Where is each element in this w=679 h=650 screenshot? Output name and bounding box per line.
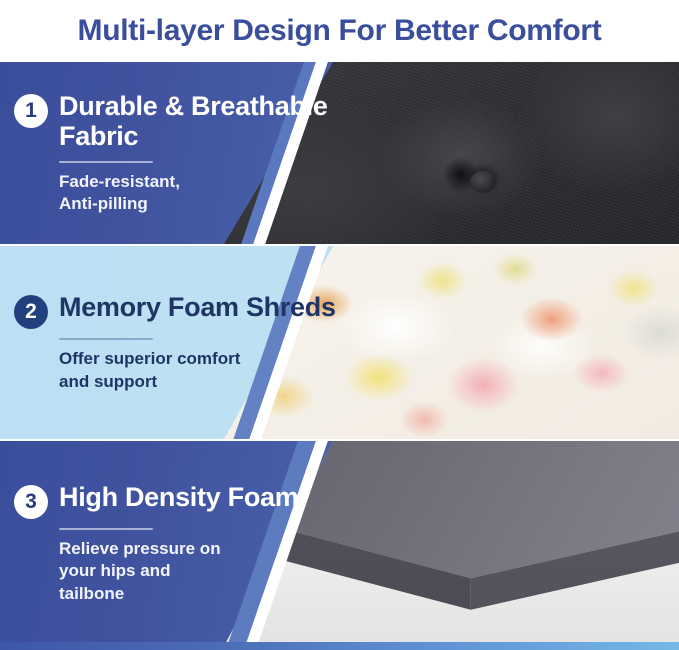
step-number-badge-3: 3: [14, 485, 48, 519]
panel-3-divider: [59, 528, 153, 530]
panel-2-subtext: Offer superior comfort and support: [59, 348, 354, 393]
panel-2-heading-row: 2 Memory Foam Shreds: [14, 292, 354, 329]
feature-panel-3: 3 High Density Foam Relieve pressure on …: [0, 441, 679, 646]
panel-3-content: 3 High Density Foam Relieve pressure on …: [14, 441, 354, 646]
panel-2-heading: Memory Foam Shreds: [59, 292, 336, 323]
feature-panel-1: 1 Durable & Breathable Fabric Fade-resis…: [0, 62, 679, 244]
panel-1-content: 1 Durable & Breathable Fabric Fade-resis…: [14, 62, 354, 244]
panel-1-divider: [59, 161, 153, 163]
panel-3-heading-row: 3 High Density Foam: [14, 482, 354, 519]
panel-1-subtext: Fade-resistant, Anti-pilling: [59, 171, 354, 216]
feature-panel-2: 2 Memory Foam Shreds Offer superior comf…: [0, 246, 679, 439]
tufted-button-detail: [470, 171, 496, 193]
panel-2-content: 2 Memory Foam Shreds Offer superior comf…: [14, 246, 354, 439]
page-title: Multi-layer Design For Better Comfort: [78, 14, 602, 48]
page-header: Multi-layer Design For Better Comfort: [0, 0, 679, 62]
panel-3-heading: High Density Foam: [59, 482, 298, 513]
panel-2-divider: [59, 338, 153, 340]
panel-1-heading: Durable & Breathable Fabric: [59, 91, 354, 152]
panel-3-subtext: Relieve pressure on your hips and tailbo…: [59, 538, 354, 605]
panel-1-heading-row: 1 Durable & Breathable Fabric: [14, 91, 354, 152]
step-number-badge-2: 2: [14, 295, 48, 329]
step-number-badge-1: 1: [14, 94, 48, 128]
